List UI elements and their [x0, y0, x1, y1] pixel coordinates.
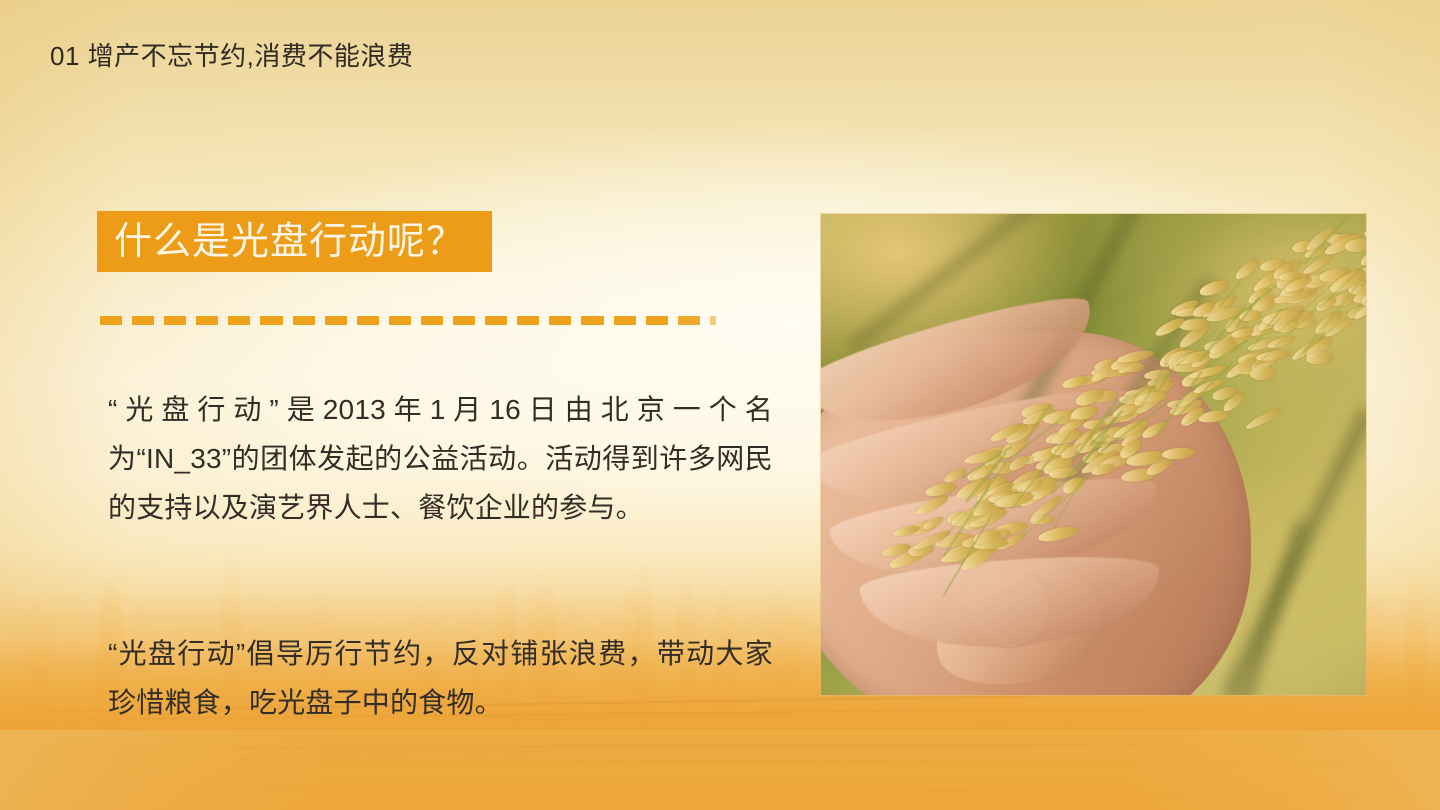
- divider-dash: [260, 316, 282, 325]
- paragraph-definition: “光盘行动”是2013年1月16日由北京一个名为“IN_33”的团体发起的公益活…: [108, 385, 773, 532]
- divider-dash: [453, 316, 475, 325]
- rice-grain: [1244, 406, 1282, 431]
- body-copy-block: “光盘行动”是2013年1月16日由北京一个名为“IN_33”的团体发起的公益活…: [108, 385, 773, 727]
- divider-dash: [485, 316, 507, 325]
- rice-grain: [1306, 351, 1334, 365]
- divider-dash: [389, 316, 411, 325]
- divider-dash: [164, 316, 186, 325]
- divider-dash: [549, 316, 571, 325]
- divider-dash: [132, 316, 154, 325]
- divider-dash: [614, 316, 636, 325]
- divider-dash: [678, 316, 700, 325]
- divider-dash: [710, 316, 717, 325]
- divider-dash: [325, 316, 347, 325]
- section-title-banner: 什么是光盘行动呢？: [97, 211, 492, 272]
- dashed-divider: [100, 316, 732, 325]
- rice-grain: [1363, 223, 1366, 239]
- divider-dash: [517, 316, 539, 325]
- divider-dash: [100, 316, 122, 325]
- divider-dash: [646, 316, 668, 325]
- divider-dash: [228, 316, 250, 325]
- slide-canvas: 01 增产不忘节约,消费不能浪费 什么是光盘行动呢？ “光盘行动”是2013年1…: [0, 0, 1440, 810]
- photo-content: [821, 214, 1366, 695]
- rice-harvest-photo: [821, 214, 1366, 695]
- divider-dash: [196, 316, 218, 325]
- paragraph-advocacy: “光盘行动”倡导厉行节约，反对铺张浪费，带动大家珍惜粮食，吃光盘子中的食物。: [108, 629, 773, 727]
- divider-dash: [421, 316, 443, 325]
- page-header-title: 01 增产不忘节约,消费不能浪费: [50, 41, 413, 72]
- section-title-text: 什么是光盘行动呢？: [114, 223, 465, 261]
- divider-dash: [581, 316, 603, 325]
- divider-dash: [357, 316, 379, 325]
- divider-dash: [293, 316, 315, 325]
- rice-grain: [1233, 256, 1262, 282]
